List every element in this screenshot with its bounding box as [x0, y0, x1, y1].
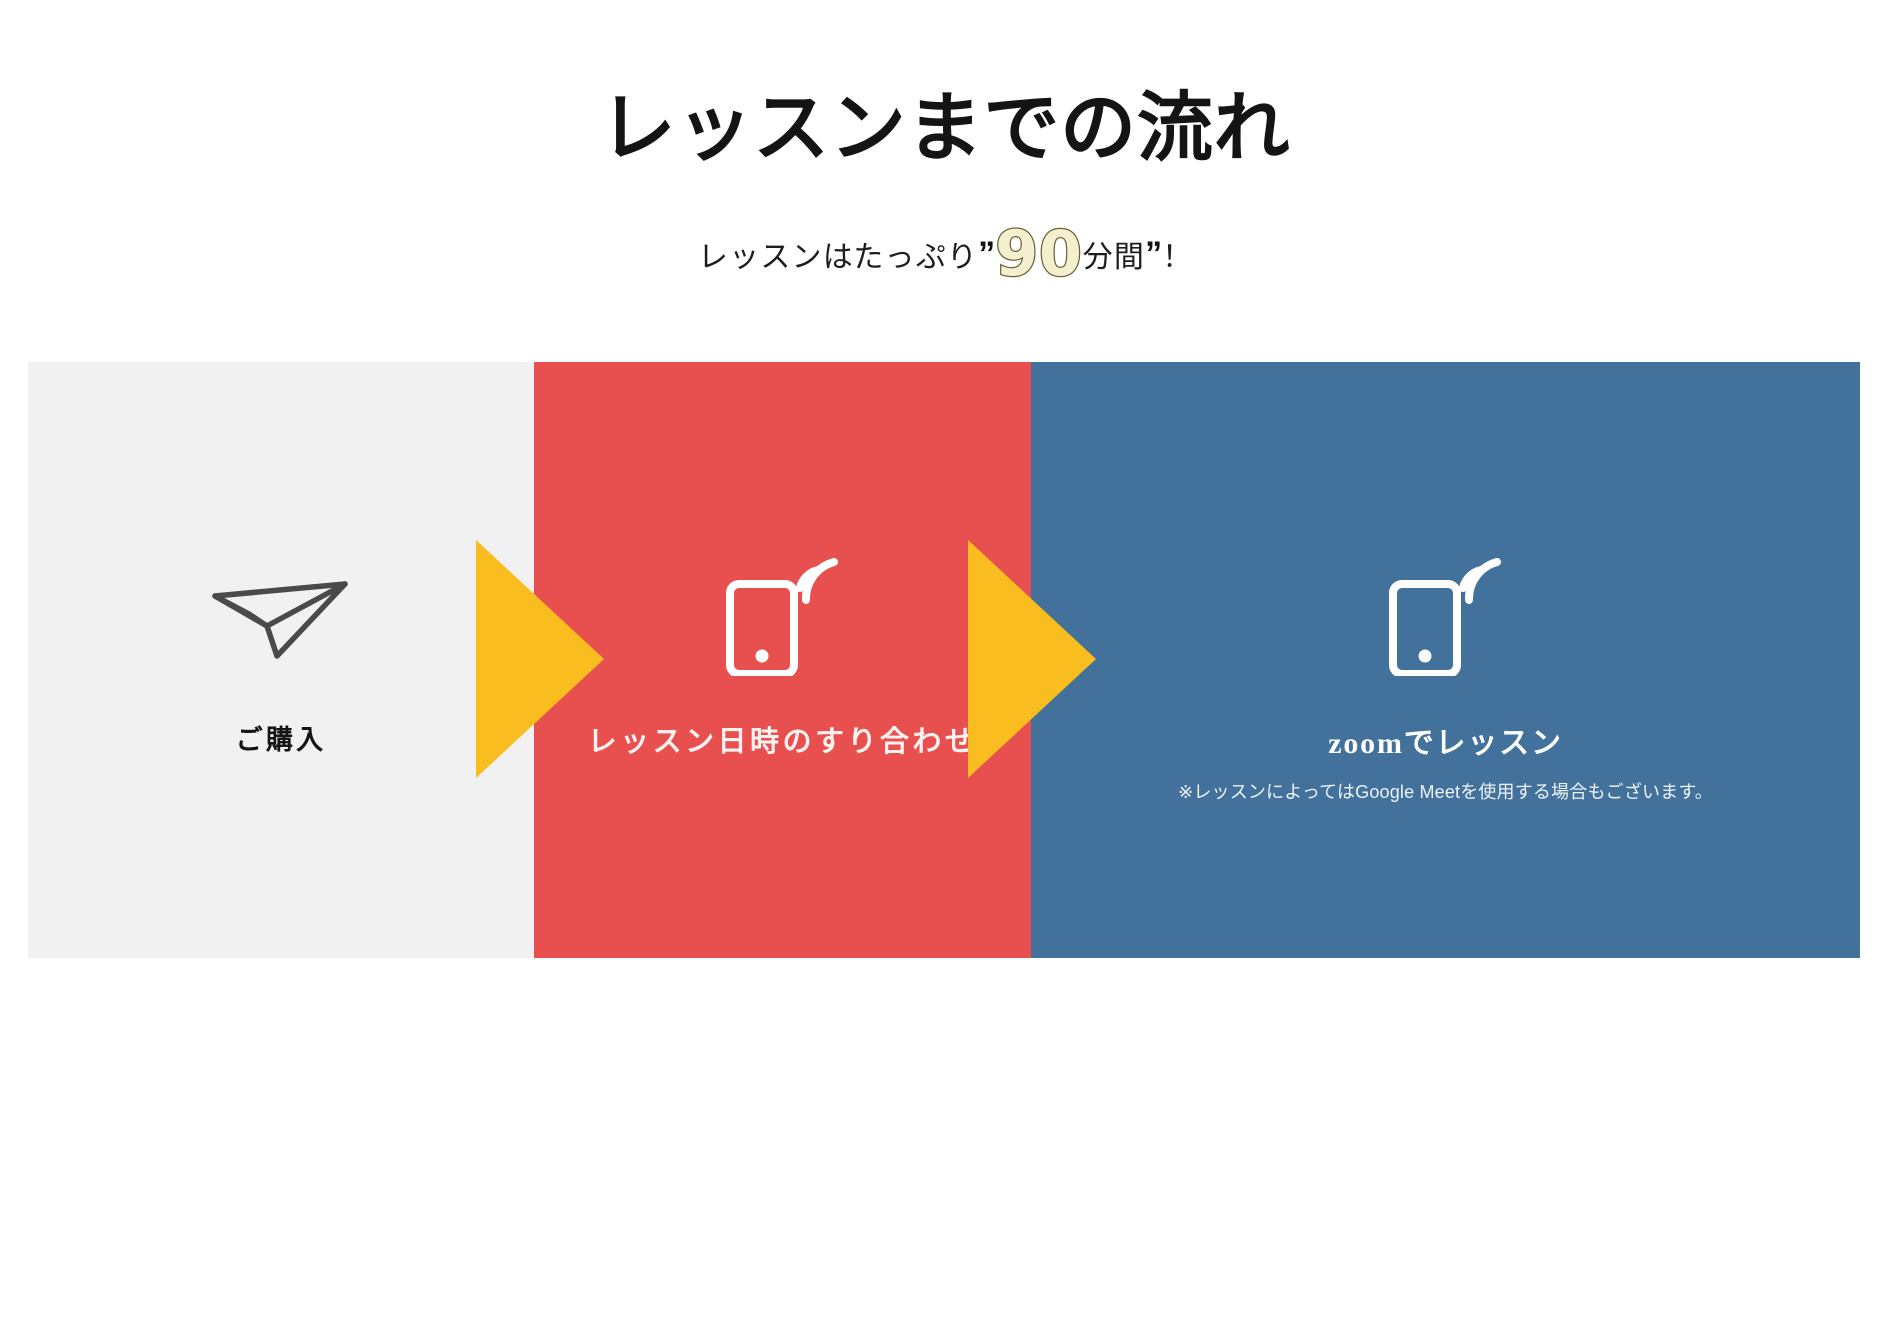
page-root: レッスンまでの流れ レッスンはたっぷり ” 90 分間 ” ！ — [0, 0, 1890, 1330]
smartphone-signal-icon-red — [718, 558, 848, 676]
smartphone-signal-icon-blue — [1381, 558, 1511, 676]
quote-close-mark: ” — [1145, 235, 1162, 274]
flow-step-label-zoom-lesson: zoomでレッスン — [1328, 718, 1563, 762]
lesson-flow-strip: ご購入 — [28, 362, 1860, 958]
subtitle-prefix: レッスンはたっぷり — [698, 232, 978, 276]
highlight-number: 90 — [995, 223, 1083, 285]
flow-step-purchase: ご購入 — [28, 362, 534, 958]
paper-plane-icon — [211, 578, 351, 662]
flow-step-label-purchase: ご購入 — [236, 718, 327, 757]
flow-step-label-schedule: レッスン日時のすり合わせ — [588, 718, 978, 760]
page-subtitle: レッスンはたっぷり ” 90 分間 ” ！ — [0, 215, 1890, 277]
flow-step-note-zoom-lesson: ※レッスンによってはGoogle Meetを使用する場合もございます。 — [1178, 778, 1713, 804]
subtitle-unit: 分間 — [1083, 232, 1145, 276]
subtitle-exclamation: ！ — [1162, 232, 1192, 276]
flow-step-zoom-lesson: zoomでレッスン ※レッスンによってはGoogle Meetを使用する場合もご… — [1031, 362, 1860, 958]
flow-step-schedule: レッスン日時のすり合わせ — [534, 362, 1031, 958]
page-header: レッスンまでの流れ レッスンはたっぷり ” 90 分間 ” ！ — [0, 0, 1890, 277]
page-title: レッスンまでの流れ — [0, 0, 1890, 171]
quote-open-mark: ” — [978, 235, 995, 274]
